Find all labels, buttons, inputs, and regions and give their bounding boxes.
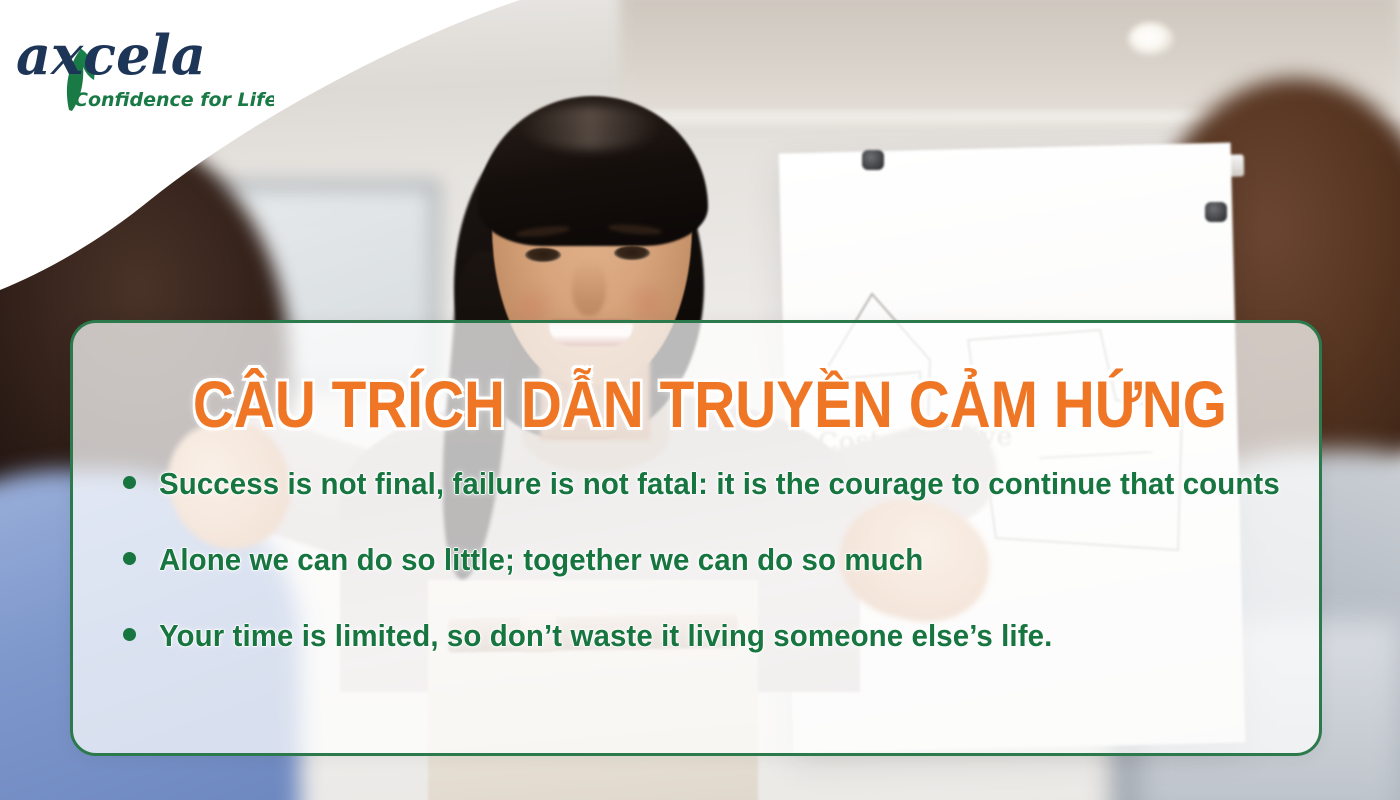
presenter-hair-highlight: [520, 106, 660, 150]
quote-text: Your time is limited, so don’t waste it …: [159, 619, 1052, 653]
list-item: Success is not final, failure is not fat…: [123, 467, 1281, 501]
presenter-nose: [572, 260, 606, 316]
bullet-icon: [123, 628, 136, 641]
quote-card: CÂU TRÍCH DẪN TRUYỀN CẢM HỨNG Success is…: [70, 320, 1322, 756]
presenter-cheek-right: [622, 284, 674, 322]
ceiling-downlight: [1128, 22, 1174, 56]
whiteboard-mount-screw: [1205, 202, 1227, 222]
presenter-eye-right: [614, 246, 650, 260]
logo-banner: axcela Confidence for Life: [0, 0, 520, 300]
slide-canvas: Cost effective Helpful: [0, 0, 1400, 800]
quote-text: Success is not final, failure is not fat…: [159, 467, 1280, 501]
bullet-icon: [123, 476, 136, 489]
logo-wordmark: axcela: [16, 23, 206, 87]
page-title: CÂU TRÍCH DẪN TRUYỀN CẢM HỨNG: [193, 371, 1199, 437]
list-item: Alone we can do so little; together we c…: [123, 543, 1281, 577]
logo-tagline: Confidence for Life: [74, 89, 274, 111]
quote-list: Success is not final, failure is not fat…: [111, 467, 1281, 653]
bullet-icon: [123, 552, 136, 565]
list-item: Your time is limited, so don’t waste it …: [123, 619, 1281, 653]
quote-text: Alone we can do so little; together we c…: [159, 543, 923, 577]
presenter-eye-left: [525, 248, 561, 262]
brand-logo: axcela Confidence for Life: [14, 18, 274, 123]
